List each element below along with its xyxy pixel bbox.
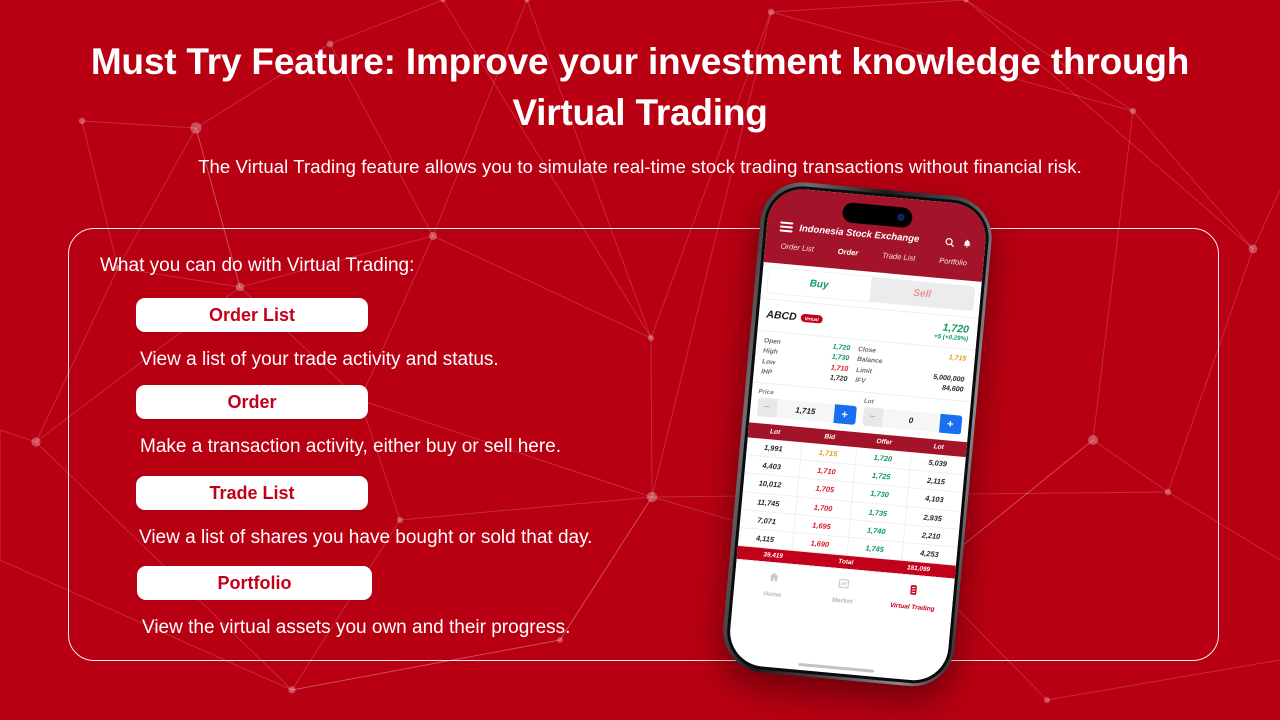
stat-label-ihp: IHP — [761, 368, 804, 379]
market-icon — [837, 576, 851, 595]
hamburger-icon[interactable] — [779, 221, 793, 233]
panel-lead-text: What you can do with Virtual Trading: — [100, 255, 414, 277]
lot-input[interactable]: 0 — [882, 408, 940, 432]
price-decrement-button[interactable]: − — [756, 397, 778, 418]
tab-order-list[interactable]: Order List — [780, 241, 814, 257]
nav-item-virtual-trading[interactable]: Virtual Trading — [877, 580, 950, 614]
stat-value-low: 1,710 — [805, 362, 855, 373]
price-input[interactable]: 1,715 — [776, 399, 834, 423]
price-increment-button[interactable]: + — [833, 404, 857, 425]
phone-screen: Indonesia Stock Exchange — [727, 186, 989, 683]
feature-pill-order-list[interactable]: Order List — [136, 298, 368, 332]
lot-decrement-button[interactable]: − — [862, 407, 884, 428]
nav-label-virtual-trading: Virtual Trading — [890, 602, 935, 613]
feature-desc-portfolio: View the virtual assets you own and thei… — [142, 617, 570, 639]
nav-label-home: Home — [763, 590, 781, 599]
home-icon — [767, 570, 781, 589]
nav-label-market: Market — [832, 596, 853, 605]
tab-order[interactable]: Order — [837, 246, 859, 261]
stat-value-ifv: 84,600 — [906, 381, 964, 393]
page-title: Must Try Feature: Improve your investmen… — [60, 36, 1220, 138]
stat-value-ihp: 1,720 — [804, 372, 854, 383]
sell-tab[interactable]: Sell — [870, 276, 975, 310]
nav-item-market[interactable]: Market — [807, 574, 880, 608]
trading-icon — [907, 583, 921, 602]
phone-bezel: Indonesia Stock Exchange — [723, 183, 991, 686]
ticker-symbol: ABCD — [766, 309, 797, 324]
feature-desc-order: Make a transaction activity, either buy … — [140, 436, 561, 458]
lot-increment-button[interactable]: + — [938, 414, 962, 435]
stat-value-close: 1,715 — [909, 350, 967, 362]
stat-label-close: Close — [856, 345, 910, 357]
feature-pill-order[interactable]: Order — [136, 385, 368, 419]
tab-portfolio[interactable]: Portfolio — [938, 255, 967, 270]
buy-tab[interactable]: Buy — [766, 267, 871, 301]
feature-desc-order-list: View a list of your trade activity and s… — [140, 349, 499, 371]
home-indicator — [798, 662, 874, 672]
stat-value-open: 1,720 — [806, 341, 856, 352]
bell-icon[interactable] — [961, 237, 972, 249]
nav-item-home[interactable]: Home — [737, 567, 810, 601]
search-icon[interactable] — [943, 236, 955, 248]
stat-value-high: 1,730 — [806, 351, 856, 362]
front-camera-icon — [897, 213, 905, 221]
stat-label-high: High — [763, 347, 806, 358]
stat-label-low: Low — [762, 358, 805, 369]
stat-label-limit: Limit — [854, 366, 908, 378]
stat-label-balance: Balance — [855, 356, 909, 368]
stat-value-balance — [908, 364, 965, 369]
slide-canvas: Must Try Feature: Improve your investmen… — [0, 0, 1280, 720]
stat-label-open: Open — [764, 337, 807, 348]
feature-pill-trade-list[interactable]: Trade List — [136, 476, 368, 510]
tab-trade-list[interactable]: Trade List — [882, 250, 916, 266]
phone-mockup: Indonesia Stock Exchange — [703, 173, 1050, 720]
stat-label-ifv: IFV — [853, 377, 907, 389]
phone-frame: Indonesia Stock Exchange — [720, 179, 996, 690]
status-badge: Virtual — [800, 314, 823, 324]
feature-pill-portfolio[interactable]: Portfolio — [137, 566, 372, 600]
page-subtitle: The Virtual Trading feature allows you t… — [40, 156, 1240, 178]
feature-desc-trade-list: View a list of shares you have bought or… — [139, 527, 592, 549]
